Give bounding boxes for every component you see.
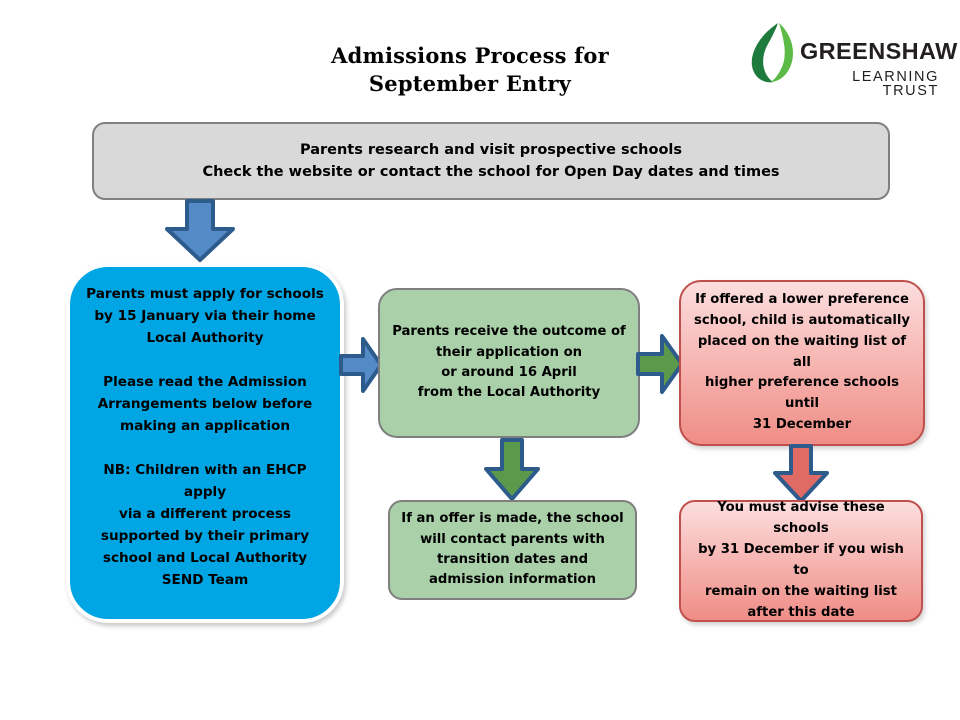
flow-node-offer-made-label: If an offer is made, the school will con… bbox=[401, 509, 623, 591]
flow-node-offer-made: If an offer is made, the school will con… bbox=[388, 500, 637, 600]
arrow-right-icon-apply-to-outcome bbox=[339, 336, 383, 394]
page-title-line-2: September Entry bbox=[300, 70, 640, 98]
flow-node-parents-must-apply-label: Parents must apply for schools by 15 Jan… bbox=[82, 283, 328, 591]
flow-node-research-and-visit-label: Parents research and visit prospective s… bbox=[202, 139, 779, 184]
logo-wordmark: GREENSHAW LEARNING TRUST bbox=[800, 40, 940, 99]
flow-node-advise-schools: You must advise these schools by 31 Dece… bbox=[679, 500, 923, 622]
arrow-right-icon-outcome-to-waiting bbox=[636, 333, 684, 395]
flow-node-waiting-list: If offered a lower preference school, ch… bbox=[679, 280, 925, 446]
flow-node-research-and-visit: Parents research and visit prospective s… bbox=[92, 122, 890, 200]
flow-node-advise-schools-label: You must advise these schools by 31 Dece… bbox=[689, 498, 913, 623]
flow-node-receive-outcome: Parents receive the outcome of their app… bbox=[378, 288, 640, 438]
arrow-down-icon-research-to-apply bbox=[163, 199, 237, 263]
arrow-down-icon-waiting-to-advise bbox=[772, 444, 830, 504]
page-title: Admissions Process for September Entry bbox=[300, 42, 640, 99]
arrow-down-icon-outcome-to-offer bbox=[483, 438, 541, 502]
page-title-line-1: Admissions Process for bbox=[300, 42, 640, 70]
green-leaf-icon bbox=[748, 22, 796, 84]
logo-brand-name: GREENSHAW bbox=[800, 40, 940, 64]
logo-brand-tagline: LEARNING TRUST bbox=[800, 70, 940, 99]
flow-node-parents-must-apply: Parents must apply for schools by 15 Jan… bbox=[66, 263, 344, 623]
greenshaw-learning-trust-logo: GREENSHAW LEARNING TRUST bbox=[748, 22, 938, 104]
flow-node-waiting-list-label: If offered a lower preference school, ch… bbox=[689, 290, 915, 435]
flow-node-receive-outcome-label: Parents receive the outcome of their app… bbox=[392, 322, 626, 404]
